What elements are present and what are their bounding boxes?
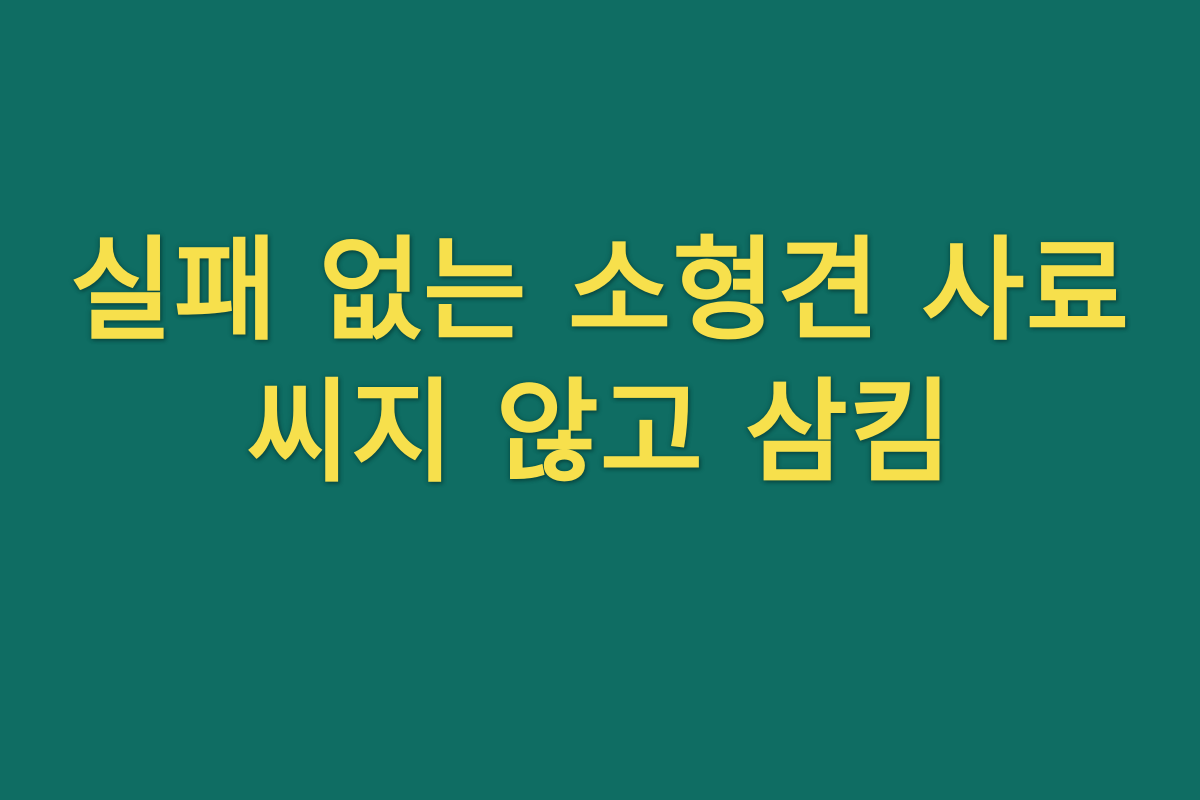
banner-canvas: 실패 없는 소형견 사료 씨지 않고 삼킴 [0,0,1200,800]
headline-block: 실패 없는 소형견 사료 씨지 않고 삼킴 [0,220,1200,504]
headline-line-1: 실패 없는 소형견 사료 [0,220,1200,362]
headline-line-2: 씨지 않고 삼킴 [0,362,1200,504]
